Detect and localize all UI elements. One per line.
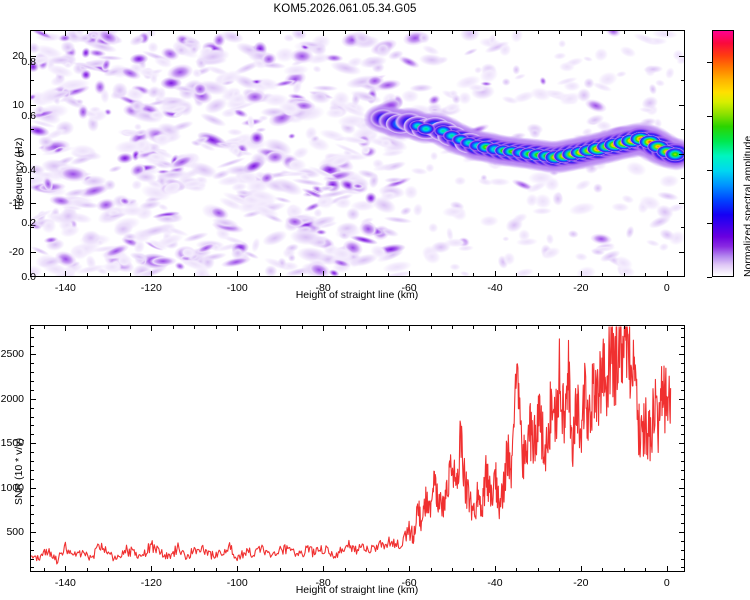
- noise-blob: [80, 69, 91, 81]
- ridge-mid: [556, 143, 589, 165]
- noise-blob: [225, 163, 255, 175]
- noise-blob: [285, 203, 303, 218]
- noise-blob: [230, 245, 246, 260]
- ridge-mid: [454, 132, 485, 153]
- noise-blob: [591, 157, 608, 172]
- ridge-halo: [422, 115, 464, 146]
- noise-blob: [185, 250, 201, 263]
- noise-blob: [576, 149, 603, 169]
- noise-blob: [44, 235, 60, 244]
- noise-blob: [524, 192, 540, 208]
- noise-blob: [195, 46, 231, 67]
- noise-blob: [65, 261, 84, 274]
- x-tick-minor: [388, 273, 389, 276]
- noise-blob: [289, 227, 323, 245]
- noise-blob: [134, 146, 168, 161]
- noise-blob: [292, 100, 317, 113]
- noise-blob: [108, 62, 130, 78]
- noise-blob: [248, 75, 272, 95]
- noise-blob: [240, 135, 268, 151]
- x-tick-major: [495, 566, 496, 571]
- y-tick-major: [31, 488, 36, 489]
- noise-blob: [530, 85, 554, 102]
- noise-blob: [584, 158, 602, 172]
- noise-blob: [111, 194, 130, 208]
- noise-blob: [500, 94, 518, 105]
- noise-blob: [147, 98, 169, 108]
- noise-blob: [309, 234, 329, 246]
- noise-blob: [279, 112, 301, 122]
- x-tick-minor-top: [173, 326, 174, 329]
- noise-blob: [567, 201, 596, 218]
- spectrogram-x-axis-label: Height of straight line (km): [296, 289, 419, 301]
- noise-blob: [253, 170, 268, 182]
- noise-blob: [290, 49, 314, 65]
- x-tick-major: [323, 271, 324, 276]
- noise-blob: [54, 119, 75, 136]
- noise-blob: [360, 145, 378, 159]
- ridge-mid: [547, 145, 580, 167]
- x-tick-minor-top: [194, 31, 195, 34]
- ridge-core: [511, 146, 531, 159]
- noise-blob: [202, 95, 229, 117]
- noise-blob: [65, 218, 78, 232]
- y-tick-minor: [31, 178, 34, 179]
- ridge-core: [476, 141, 496, 154]
- noise-blob: [364, 74, 385, 89]
- noise-blob: [100, 88, 110, 103]
- y-tick-minor: [31, 567, 34, 568]
- y-tick-minor-right: [681, 523, 684, 524]
- x-tick-minor: [173, 568, 174, 571]
- noise-blob: [342, 99, 367, 117]
- noise-blob: [611, 202, 629, 212]
- x-tick-minor-top: [538, 326, 539, 329]
- noise-blob: [176, 151, 202, 169]
- noise-blob: [59, 223, 81, 239]
- y-tick-minor: [31, 470, 34, 471]
- x-tick-major-top: [409, 326, 410, 331]
- noise-blob: [62, 171, 92, 181]
- noise-blob: [120, 129, 133, 137]
- noise-blob: [211, 31, 228, 49]
- noise-blob: [375, 247, 401, 265]
- noise-blob: [169, 118, 194, 133]
- noise-blob: [349, 88, 383, 106]
- noise-blob: [141, 147, 165, 160]
- noise-blob: [454, 73, 482, 91]
- noise-blob: [130, 179, 144, 192]
- noise-blob: [229, 144, 242, 158]
- noise-blob: [159, 183, 172, 195]
- noise-blob: [245, 177, 272, 196]
- noise-blob: [250, 237, 262, 254]
- noise-blob: [88, 48, 106, 58]
- x-tick-minor-top: [44, 326, 45, 329]
- noise-blob: [136, 54, 149, 72]
- ridge-halo: [557, 135, 604, 169]
- noise-blob: [460, 149, 482, 166]
- noise-blob: [141, 48, 174, 65]
- x-tick-minor-top: [302, 326, 303, 329]
- noise-blob: [68, 242, 89, 261]
- noise-blob: [483, 39, 510, 55]
- noise-blob: [101, 250, 128, 261]
- noise-blob: [658, 227, 677, 244]
- noise-blob: [201, 251, 228, 263]
- noise-blob: [625, 134, 649, 147]
- noise-blob: [285, 202, 298, 219]
- x-tick-major-top: [323, 326, 324, 331]
- x-tick-minor-top: [645, 326, 646, 329]
- noise-blob: [101, 241, 131, 260]
- noise-blob: [76, 146, 97, 159]
- noise-blob: [454, 176, 466, 186]
- noise-blob: [283, 34, 295, 43]
- noise-blob: [350, 31, 375, 48]
- noise-blob: [435, 105, 463, 118]
- noise-blob: [144, 193, 165, 205]
- noise-blob: [182, 77, 204, 94]
- noise-blob: [60, 93, 86, 111]
- noise-blob: [409, 102, 436, 120]
- ridge-halo: [635, 130, 682, 164]
- noise-blob: [147, 237, 170, 252]
- noise-blob: [303, 200, 324, 214]
- noise-blob: [538, 75, 547, 86]
- noise-blob: [31, 123, 51, 139]
- x-tick-major: [667, 566, 668, 571]
- noise-blob: [212, 71, 232, 88]
- noise-blob: [95, 266, 108, 275]
- x-tick-minor: [259, 273, 260, 276]
- snr-trace: [31, 326, 684, 571]
- noise-blob: [257, 169, 276, 186]
- x-tick-minor: [516, 273, 517, 276]
- noise-blob: [169, 154, 181, 169]
- noise-blob: [409, 83, 433, 92]
- noise-blob: [67, 211, 93, 225]
- noise-blob: [497, 42, 513, 59]
- x-tick-minor-top: [194, 326, 195, 329]
- x-tick-major: [409, 566, 410, 571]
- x-tick-minor: [302, 568, 303, 571]
- x-tick-major: [667, 271, 668, 276]
- noise-blob: [655, 79, 666, 88]
- noise-blob: [224, 99, 257, 114]
- noise-blob: [58, 94, 77, 105]
- noise-blob: [657, 190, 680, 202]
- spectrogram-image: [31, 31, 684, 276]
- noise-blob: [559, 62, 575, 73]
- noise-blob: [318, 127, 345, 143]
- x-tick-minor: [194, 568, 195, 571]
- noise-blob: [122, 233, 137, 242]
- noise-blob: [290, 58, 305, 68]
- noise-blob: [538, 154, 551, 163]
- noise-blob: [559, 141, 573, 156]
- ridge-core: [494, 144, 514, 157]
- noise-blob: [153, 94, 165, 108]
- noise-blob: [525, 178, 548, 194]
- noise-blob: [31, 181, 58, 195]
- noise-blob: [368, 173, 381, 190]
- noise-blob: [95, 202, 129, 228]
- noise-blob: [463, 46, 479, 57]
- noise-blob: [51, 145, 67, 156]
- noise-blob: [273, 152, 290, 161]
- noise-blob: [107, 33, 125, 46]
- noise-blob: [198, 44, 217, 59]
- noise-blob: [67, 260, 81, 270]
- noise-blob: [502, 236, 509, 241]
- ridge-core: [451, 134, 470, 146]
- noise-blob: [301, 247, 318, 261]
- y-tick-major-right: [679, 399, 684, 400]
- noise-blob: [419, 243, 440, 263]
- y-tick-minor: [31, 523, 34, 524]
- noise-blob: [591, 81, 613, 95]
- noise-blob: [355, 117, 377, 133]
- noise-blob: [57, 165, 89, 183]
- y-tick-minor-right: [681, 346, 684, 347]
- noise-blob: [114, 140, 144, 156]
- x-tick-minor-top: [87, 326, 88, 329]
- noise-blob: [315, 194, 334, 209]
- x-tick-major-top: [65, 326, 66, 331]
- noise-blob: [73, 31, 86, 39]
- noise-blob: [404, 184, 419, 198]
- noise-blob: [424, 163, 435, 174]
- noise-blob: [159, 96, 186, 108]
- noise-blob: [274, 46, 295, 63]
- noise-blob: [615, 263, 627, 276]
- noise-blob: [115, 93, 147, 111]
- noise-blob: [545, 90, 565, 99]
- noise-blob: [176, 99, 193, 116]
- x-tick-minor: [602, 568, 603, 571]
- noise-blob: [387, 49, 405, 62]
- noise-blob: [352, 34, 380, 49]
- noise-blob: [251, 57, 268, 71]
- noise-blob: [574, 264, 596, 276]
- colorbar: [712, 30, 734, 277]
- noise-blob: [62, 169, 84, 182]
- y-tick-minor-right: [681, 337, 684, 338]
- x-tick-minor-top: [538, 31, 539, 34]
- y-tick-minor-right: [681, 496, 684, 497]
- noise-blob: [112, 220, 134, 237]
- noise-blob: [505, 154, 517, 162]
- noise-blob: [533, 192, 553, 210]
- noise-blob: [146, 40, 159, 53]
- y-tick-label: 20: [0, 50, 24, 62]
- noise-blob: [36, 56, 50, 71]
- noise-blob: [96, 54, 123, 60]
- noise-blob: [86, 116, 100, 133]
- x-tick-minor: [388, 568, 389, 571]
- noise-blob: [80, 175, 107, 187]
- noise-blob: [179, 253, 197, 262]
- noise-blob: [76, 61, 90, 73]
- noise-blob: [230, 87, 242, 101]
- x-tick-minor: [473, 273, 474, 276]
- x-tick-minor: [108, 273, 109, 276]
- noise-blob: [174, 153, 190, 165]
- noise-blob: [206, 64, 231, 78]
- noise-blob: [163, 231, 172, 243]
- noise-blob: [276, 256, 287, 269]
- noise-blob: [207, 49, 225, 60]
- noise-blob: [241, 155, 267, 176]
- y-tick-major: [31, 399, 36, 400]
- noise-blob: [307, 213, 337, 231]
- noise-blob: [402, 31, 429, 47]
- noise-blob: [574, 252, 587, 262]
- noise-blob: [489, 142, 498, 151]
- ridge-halo: [464, 131, 508, 163]
- x-tick-minor: [345, 273, 346, 276]
- noise-blob: [378, 226, 401, 239]
- noise-blob: [157, 203, 169, 212]
- noise-blob: [195, 56, 208, 69]
- noise-blob: [74, 263, 107, 276]
- noise-blob: [291, 31, 308, 40]
- x-tick-major-top: [151, 31, 152, 36]
- x-tick-minor-top: [624, 31, 625, 34]
- noise-blob: [49, 89, 63, 106]
- noise-blob: [328, 268, 340, 276]
- noise-blob: [178, 85, 196, 100]
- noise-blob: [249, 45, 261, 55]
- y-tick-label: 500: [0, 526, 24, 538]
- noise-blob: [207, 204, 232, 223]
- noise-blob: [325, 150, 354, 170]
- y-tick-major: [31, 354, 36, 355]
- noise-blob: [155, 87, 167, 102]
- noise-blob: [104, 179, 117, 191]
- noise-blob: [287, 133, 296, 140]
- noise-blob: [638, 107, 657, 115]
- noise-blob: [580, 126, 593, 137]
- y-tick-major-right: [679, 443, 684, 444]
- noise-blob: [337, 177, 358, 194]
- noise-blob: [312, 215, 337, 228]
- noise-blob: [213, 226, 232, 243]
- x-tick-label: 0: [664, 577, 670, 589]
- noise-blob: [177, 177, 209, 192]
- noise-blob: [119, 235, 140, 250]
- noise-blob: [355, 73, 386, 89]
- noise-blob: [130, 163, 160, 176]
- noise-blob: [87, 107, 109, 124]
- noise-blob: [136, 31, 151, 45]
- ridge-core: [417, 123, 436, 135]
- noise-blob: [325, 191, 354, 206]
- y-tick-minor-right: [681, 470, 684, 471]
- noise-blob: [428, 107, 442, 114]
- noise-blob: [593, 46, 611, 64]
- noise-blob: [71, 60, 89, 77]
- noise-blob: [41, 175, 56, 188]
- noise-blob: [335, 221, 358, 235]
- noise-blob: [221, 190, 253, 209]
- noise-blob: [496, 151, 507, 160]
- noise-blob: [486, 157, 504, 170]
- noise-blob: [399, 205, 413, 217]
- y-tick-major: [31, 443, 36, 444]
- noise-blob: [191, 82, 207, 96]
- x-tick-label: -40: [487, 577, 502, 589]
- noise-blob: [651, 31, 678, 39]
- noise-blob: [332, 90, 350, 107]
- noise-blob: [211, 219, 246, 235]
- noise-blob: [220, 108, 237, 119]
- noise-blob: [621, 193, 636, 204]
- noise-blob: [364, 192, 377, 205]
- noise-blob: [392, 126, 411, 143]
- noise-blob: [256, 146, 286, 161]
- x-tick-minor: [624, 568, 625, 571]
- noise-blob: [217, 195, 245, 214]
- noise-blob: [316, 184, 337, 192]
- noise-blob: [181, 250, 207, 267]
- x-tick-minor-top: [366, 326, 367, 329]
- ridge-halo: [380, 109, 421, 140]
- noise-blob: [148, 145, 175, 162]
- noise-blob: [293, 40, 327, 56]
- noise-blob: [351, 115, 377, 133]
- x-tick-minor: [216, 568, 217, 571]
- noise-blob: [120, 205, 147, 216]
- noise-blob: [449, 205, 469, 223]
- noise-blob: [235, 149, 253, 157]
- noise-blob: [612, 253, 635, 273]
- ridge-core: [536, 150, 556, 163]
- y-tick-minor: [31, 479, 34, 480]
- x-tick-major: [495, 271, 496, 276]
- noise-blob: [102, 211, 128, 222]
- noise-blob: [219, 31, 245, 46]
- noise-blob: [218, 84, 243, 104]
- noise-blob: [653, 118, 663, 129]
- noise-blob: [41, 103, 70, 118]
- noise-blob: [38, 255, 65, 270]
- noise-blob: [60, 52, 77, 68]
- noise-blob: [161, 107, 182, 120]
- noise-blob: [143, 152, 169, 167]
- noise-blob: [195, 239, 224, 250]
- noise-blob: [307, 234, 331, 248]
- y-tick-minor-right: [681, 178, 684, 179]
- noise-blob: [227, 128, 243, 135]
- noise-blob: [350, 123, 380, 144]
- ridge-mid: [607, 131, 641, 154]
- noise-blob: [200, 202, 224, 220]
- noise-blob: [282, 247, 297, 260]
- y-tick-minor: [31, 461, 34, 462]
- noise-blob: [200, 39, 226, 59]
- noise-blob: [174, 33, 192, 48]
- y-tick-minor: [31, 328, 34, 329]
- noise-blob: [291, 78, 303, 95]
- noise-blob: [306, 164, 338, 182]
- noise-blob: [256, 91, 276, 105]
- colorbar-tick: [707, 223, 712, 224]
- x-tick-minor: [516, 568, 517, 571]
- x-tick-minor-top: [216, 31, 217, 34]
- spectrogram-panel: [30, 30, 685, 277]
